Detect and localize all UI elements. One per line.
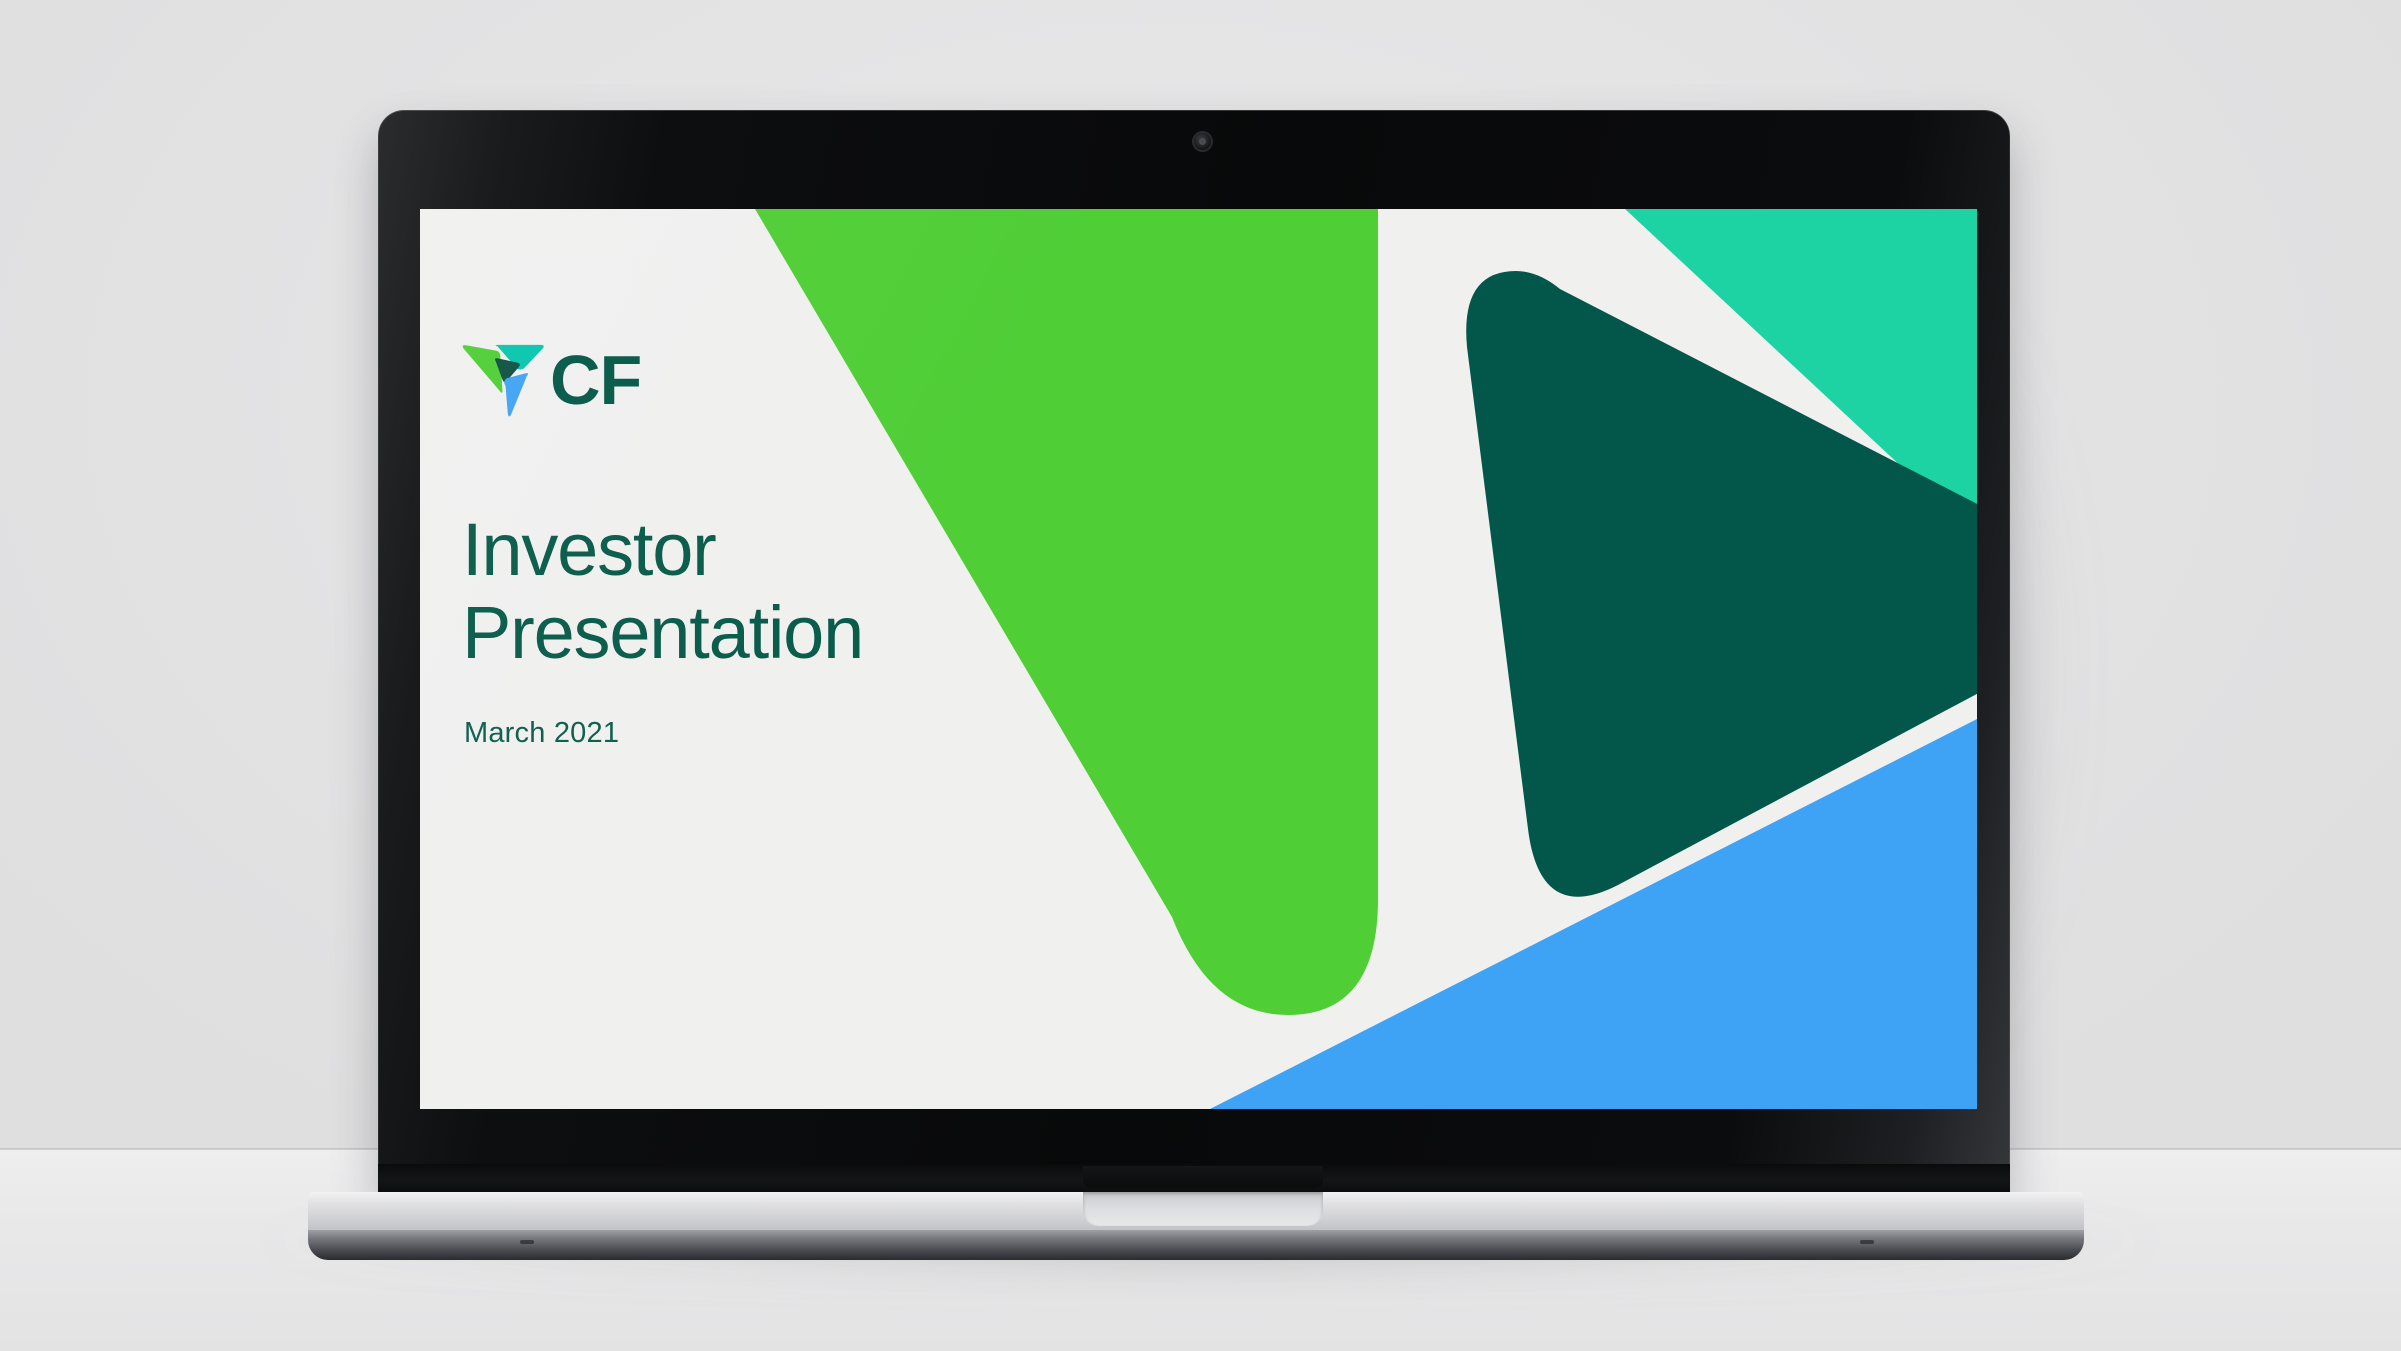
laptop-device: CF Investor Presentation March 2021 xyxy=(0,0,2401,1351)
brand-wordmark: CF xyxy=(550,345,641,415)
slide-text-block: CF Investor Presentation March 2021 xyxy=(460,209,1080,1109)
laptop-foot-left xyxy=(520,1240,534,1244)
webcam-icon xyxy=(1194,133,1211,150)
laptop-hinge-notch xyxy=(1083,1166,1323,1188)
slide-date: March 2021 xyxy=(464,717,619,750)
logo-triangle-green xyxy=(463,345,503,393)
webcam-lens xyxy=(1199,138,1206,145)
cf-logo-mark-icon xyxy=(460,341,546,419)
slide-title: Investor Presentation xyxy=(462,509,863,675)
laptop-palmrest-notch xyxy=(1083,1192,1323,1226)
logo-triangle-blue xyxy=(504,373,528,416)
brand-logo: CF xyxy=(460,341,641,419)
laptop-base-front-edge xyxy=(308,1230,2084,1260)
laptop-screen[interactable]: CF Investor Presentation March 2021 xyxy=(420,209,1977,1109)
laptop-foot-right xyxy=(1860,1240,1874,1244)
